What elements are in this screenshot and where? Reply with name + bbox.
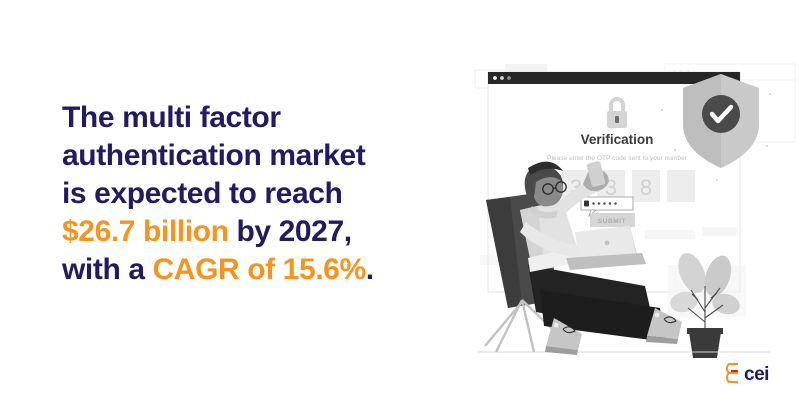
dot-3 — [507, 76, 511, 80]
plant-pot — [689, 332, 721, 358]
headline-span: . — [366, 253, 374, 286]
svg-text:8: 8 — [640, 175, 652, 200]
headline-line-3: is expected to reach — [62, 175, 442, 213]
banner: The multi factor authentication market i… — [0, 0, 800, 400]
otp-verification-illustration: Verification Please enter the OTP code s… — [470, 50, 800, 360]
headline-highlight-cagr: CAGR of 15.6% — [153, 253, 366, 286]
headline-line-4: $26.7 billion by 2027, — [62, 213, 442, 251]
headline-span: authentication market — [62, 139, 365, 172]
person-head — [525, 162, 567, 207]
headline-highlight-value: $26.7 billion — [62, 215, 229, 248]
headline: The multi factor authentication market i… — [62, 99, 442, 289]
headline-line-1: The multi factor — [62, 99, 442, 137]
submit-button: SUBMIT — [590, 213, 635, 227]
headline-span: with a — [62, 253, 153, 286]
headline-span: is expected to reach — [62, 177, 342, 210]
logo-wordmark: cei — [744, 364, 769, 385]
cei-logo[interactable]: cei — [722, 358, 784, 388]
bubble-lock-icon — [584, 201, 589, 207]
svg-text:SUBMIT: SUBMIT — [598, 218, 627, 225]
logo-e-mark — [727, 364, 738, 382]
headline-span: The multi factor — [62, 101, 281, 134]
headline-span: by 2027, — [229, 215, 352, 248]
dot-1 — [493, 76, 497, 80]
dot-2 — [500, 76, 504, 80]
verification-subtext: Please enter the OTP code sent to your n… — [547, 155, 688, 162]
headline-line-2: authentication market — [62, 137, 442, 175]
headline-line-5: with a CAGR of 15.6%. — [62, 251, 442, 289]
otp-box-5 — [667, 170, 695, 202]
verification-heading: Verification — [581, 132, 654, 147]
